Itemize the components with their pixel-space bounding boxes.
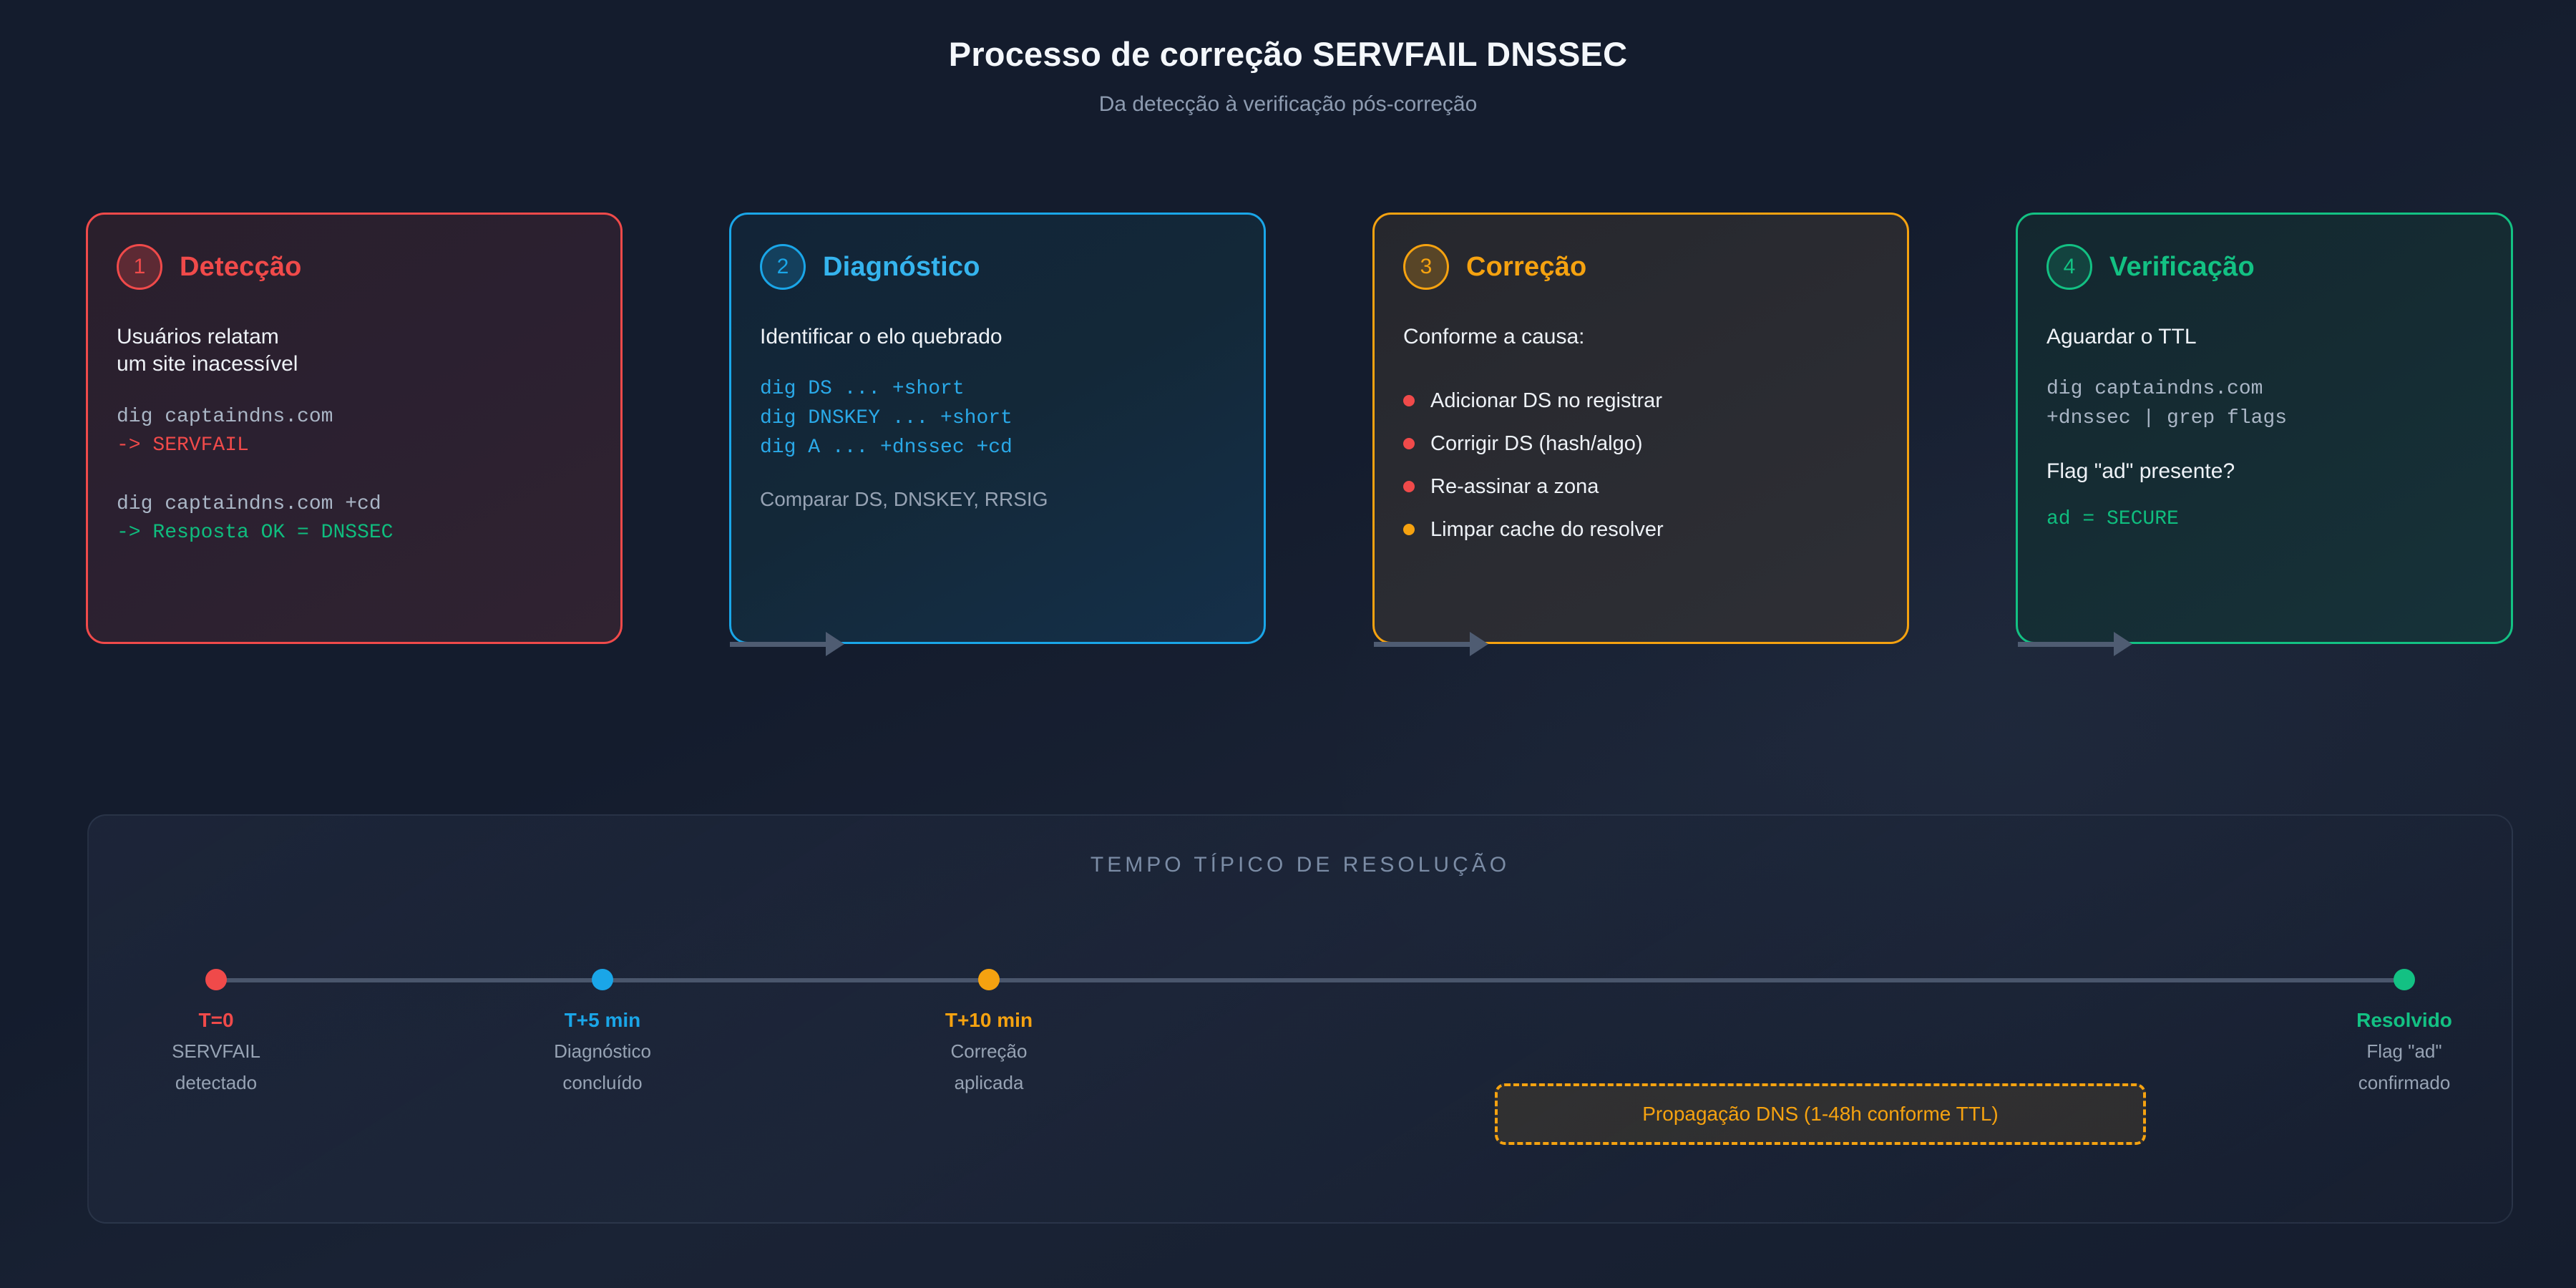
code-line: dig captaindns.com +cd: [117, 490, 592, 519]
step-lead-line-1: Usuários relatam: [117, 323, 592, 351]
page-title: Processo de correção SERVFAIL DNSSEC: [0, 34, 2576, 74]
timeline-desc-line-1: Correção: [882, 1040, 1096, 1063]
step-lead-line-2: um site inacessível: [117, 351, 592, 378]
step-lead-line-1: Identificar o elo quebrado: [760, 323, 1235, 351]
code-line: dig captaindns.com: [2046, 375, 2482, 404]
step-note: Comparar DS, DNSKEY, RRSIG: [760, 488, 1235, 511]
list-item: Adicionar DS no registrar: [1403, 379, 1878, 422]
page-subtitle: Da detecção à verificação pós-correção: [0, 92, 2576, 117]
step-bullet-list: Adicionar DS no registrar Corrigir DS (h…: [1403, 379, 1878, 551]
timeline-title: TEMPO TÍPICO DE RESOLUÇÃO: [89, 853, 2512, 877]
step-number-badge: 2: [760, 244, 806, 290]
code-line: dig DNSKEY ... +short: [760, 404, 1235, 434]
step-lead-line-1: Conforme a causa:: [1403, 323, 1878, 351]
timeline-desc-line-2: confirmado: [2297, 1072, 2512, 1095]
bullet-label: Limpar cache do resolver: [1430, 518, 1664, 542]
timeline-propagation-label: Propagação DNS (1-48h conforme TTL): [1642, 1103, 1999, 1126]
timeline-node[interactable]: T+5 min Diagnóstico concluído: [495, 969, 710, 1094]
step-title: Correção: [1466, 252, 1586, 283]
bullet-label: Re-assinar a zona: [1430, 475, 1599, 499]
step-cards-row: 1 Detecção Usuários relatam um site inac…: [86, 213, 2513, 644]
infographic-root: Processo de correção SERVFAIL DNSSEC Da …: [0, 0, 2576, 1288]
bullet-dot-icon: [1403, 481, 1415, 492]
code-spacer: [117, 461, 592, 490]
timeline-desc-line-2: detectado: [109, 1072, 323, 1095]
bullet-dot-icon: [1403, 395, 1415, 406]
bullet-label: Corrigir DS (hash/algo): [1430, 432, 1643, 456]
step-card-correcao[interactable]: 3 Correção Conforme a causa: Adicionar D…: [1372, 213, 1909, 644]
timeline-dot-icon: [205, 969, 227, 990]
step-code-block: dig captaindns.com -> SERVFAIL dig capta…: [117, 403, 592, 548]
step-card-header: 2 Diagnóstico: [760, 240, 1235, 293]
step-code-block: dig captaindns.com +dnssec | grep flags: [2046, 375, 2482, 433]
step-card-header: 3 Correção: [1403, 240, 1878, 293]
step-lead: Identificar o elo quebrado: [760, 323, 1235, 351]
header: Processo de correção SERVFAIL DNSSEC Da …: [0, 34, 2576, 117]
timeline-node[interactable]: T=0 SERVFAIL detectado: [109, 969, 323, 1094]
timeline-time-label: T+5 min: [495, 1009, 710, 1032]
step-question: Flag "ad" presente?: [2046, 458, 2482, 485]
step-result: ad = SECURE: [2046, 505, 2482, 535]
timeline-time-label: Resolvido: [2297, 1009, 2512, 1032]
bullet-dot-icon: [1403, 524, 1415, 535]
timeline-dot-icon: [978, 969, 1000, 990]
step-card-header: 1 Detecção: [117, 240, 592, 293]
step-number-badge: 1: [117, 244, 162, 290]
bullet-label: Adicionar DS no registrar: [1430, 389, 1662, 413]
timeline-desc-line-2: concluído: [495, 1072, 710, 1095]
step-lead: Aguardar o TTL: [2046, 323, 2482, 351]
timeline-time-label: T=0: [109, 1009, 323, 1032]
timeline-dot-icon: [592, 969, 613, 990]
timeline-desc-line-1: SERVFAIL: [109, 1040, 323, 1063]
timeline-propagation-band[interactable]: Propagação DNS (1-48h conforme TTL): [1495, 1083, 2146, 1145]
step-card-diagnostico[interactable]: 2 Diagnóstico Identificar o elo quebrado…: [729, 213, 1266, 644]
step-card-verificacao[interactable]: 4 Verificação Aguardar o TTL dig captain…: [2016, 213, 2513, 644]
timeline-node[interactable]: Resolvido Flag "ad" confirmado: [2297, 969, 2512, 1094]
step-lead-line-1: Aguardar o TTL: [2046, 323, 2482, 351]
step-code-block: dig DS ... +short dig DNSKEY ... +short …: [760, 375, 1235, 462]
code-line: -> SERVFAIL: [117, 431, 592, 461]
step-lead: Conforme a causa:: [1403, 323, 1878, 351]
list-item: Limpar cache do resolver: [1403, 508, 1878, 551]
code-line: dig captaindns.com: [117, 403, 592, 432]
list-item: Corrigir DS (hash/algo): [1403, 422, 1878, 465]
step-title: Diagnóstico: [823, 252, 980, 283]
list-item: Re-assinar a zona: [1403, 465, 1878, 508]
timeline-dot-icon: [2394, 969, 2415, 990]
step-card-header: 4 Verificação: [2046, 240, 2482, 293]
code-line: dig DS ... +short: [760, 375, 1235, 404]
code-line: -> Resposta OK = DNSSEC: [117, 519, 592, 548]
step-lead: Usuários relatam um site inacessível: [117, 323, 592, 379]
step-title: Detecção: [180, 252, 302, 283]
step-card-deteccao[interactable]: 1 Detecção Usuários relatam um site inac…: [86, 213, 623, 644]
timeline-desc-line-1: Diagnóstico: [495, 1040, 710, 1063]
timeline-desc-line-1: Flag "ad": [2297, 1040, 2512, 1063]
timeline-panel: TEMPO TÍPICO DE RESOLUÇÃO T=0 SERVFAIL d…: [87, 814, 2513, 1224]
code-line: dig A ... +dnssec +cd: [760, 434, 1235, 463]
step-number-badge: 4: [2046, 244, 2092, 290]
step-title: Verificação: [2109, 252, 2255, 283]
timeline-desc-line-2: aplicada: [882, 1072, 1096, 1095]
step-number-badge: 3: [1403, 244, 1449, 290]
bullet-dot-icon: [1403, 438, 1415, 449]
code-line: +dnssec | grep flags: [2046, 404, 2482, 434]
timeline-time-label: T+10 min: [882, 1009, 1096, 1032]
timeline-node[interactable]: T+10 min Correção aplicada: [882, 969, 1096, 1094]
